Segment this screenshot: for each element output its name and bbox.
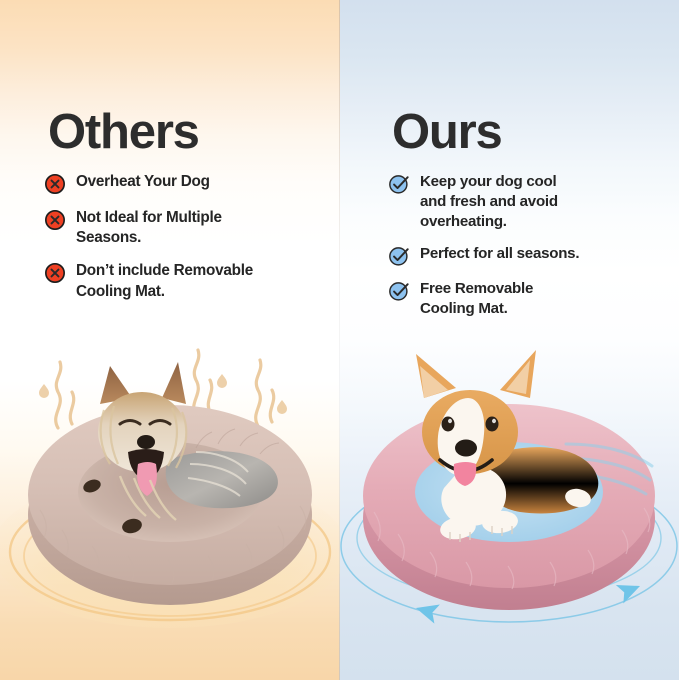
ours-feature-list: Keep your dog cool and fresh and avoid o…: [388, 172, 674, 331]
list-item: Don’t include Removable Cooling Mat.: [44, 261, 334, 301]
cross-circle-icon: [44, 262, 66, 284]
list-item-label: Don’t include Removable Cooling Mat.: [76, 261, 253, 301]
list-item: Perfect for all seasons.: [388, 244, 674, 267]
check-circle-icon: [388, 173, 410, 195]
comparison-infographic: Others Ours Overheat Your Dog Not Ideal …: [0, 0, 679, 680]
ear-right: [162, 362, 186, 404]
check-circle-icon: [388, 280, 410, 302]
list-item: Overheat Your Dog: [44, 172, 334, 195]
list-item-label: Keep your dog cool and fresh and avoid o…: [420, 172, 558, 232]
list-item-label: Free Removable Cooling Mat.: [420, 279, 533, 319]
list-item-label: Not Ideal for Multiple Seasons.: [76, 208, 222, 248]
cross-circle-icon: [44, 173, 66, 195]
others-feature-list: Overheat Your Dog Not Ideal for Multiple…: [44, 172, 334, 315]
left-artwork: [0, 340, 340, 680]
list-item: Not Ideal for Multiple Seasons.: [44, 208, 334, 248]
page-title-ours: Ours: [392, 108, 502, 157]
list-item-label: Overheat Your Dog: [76, 172, 210, 192]
list-item-label: Perfect for all seasons.: [420, 244, 579, 264]
cross-circle-icon: [44, 209, 66, 231]
list-item: Free Removable Cooling Mat.: [388, 279, 674, 319]
list-item: Keep your dog cool and fresh and avoid o…: [388, 172, 674, 232]
right-artwork: [340, 340, 679, 680]
check-circle-icon: [388, 245, 410, 267]
page-title-others: Others: [48, 108, 199, 157]
